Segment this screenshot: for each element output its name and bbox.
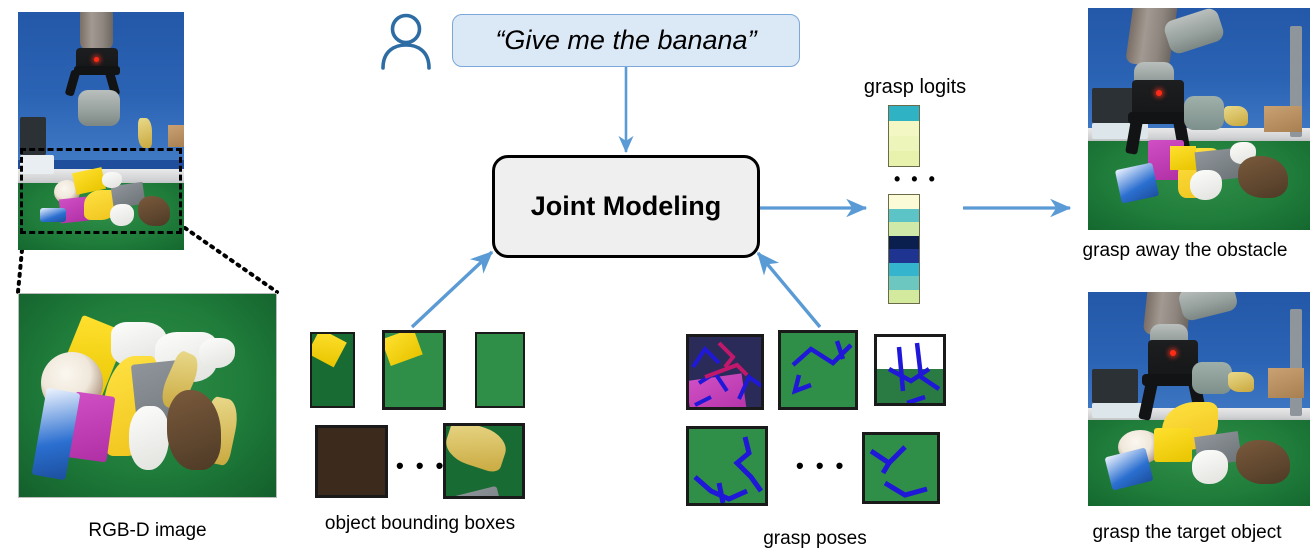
laser-dot — [1170, 350, 1176, 356]
photo-brown-animal — [1238, 156, 1288, 198]
logit-cell — [889, 236, 919, 250]
bbox-thumb-owl-toy — [315, 425, 388, 498]
bbox-thumb-banana-cluster — [310, 332, 355, 408]
photo-box — [1264, 106, 1302, 132]
bbox-thumb-gray-block — [443, 423, 525, 499]
caption-bboxes: object bounding boxes — [285, 513, 555, 535]
robot-arm-base-cyl — [1184, 96, 1224, 130]
grasp-pose-overlay — [877, 337, 946, 406]
photo-white-bone — [1192, 450, 1228, 484]
logit-cell — [889, 249, 919, 263]
pose-thumb-white-figure — [778, 330, 858, 410]
logit-cell — [889, 106, 919, 121]
grasp-logits-bar-top — [888, 105, 920, 167]
joint-modeling-label: Joint Modeling — [531, 191, 721, 222]
robot-arm-joint — [78, 90, 120, 126]
logit-cell — [889, 290, 919, 304]
photo-corn — [138, 118, 152, 148]
caption-obstacle: grasp away the obstacle — [1055, 240, 1315, 262]
pose-row2-ellipsis: • • • — [796, 455, 846, 477]
gripper-base — [74, 66, 120, 75]
photo-corn — [1228, 372, 1254, 392]
caption-poses: grasp poses — [700, 528, 930, 550]
laser-dot — [1156, 90, 1162, 96]
logit-cell — [889, 222, 919, 236]
photo-toothpaste — [40, 208, 66, 222]
logit-cell — [889, 263, 919, 277]
photo-frame-post — [1290, 309, 1302, 416]
grasp-pose-overlay — [689, 429, 768, 506]
pose-thumb-brown-animal — [862, 432, 940, 504]
logit-cell — [889, 209, 919, 223]
caption-target: grasp the target object — [1058, 522, 1316, 544]
photo-box — [168, 125, 184, 147]
laser-dot — [94, 57, 99, 62]
logits-ellipsis: • • • — [894, 170, 938, 188]
grasp-logits-bar-bottom — [888, 194, 920, 304]
grasp-pose-overlay — [781, 333, 858, 410]
photo-monitor — [1092, 369, 1138, 403]
photo-brown-animal — [138, 196, 170, 226]
photo-white-bone — [110, 204, 134, 226]
robot-arm-upper — [80, 12, 113, 50]
grasp-pose-overlay — [689, 337, 764, 410]
photo-corn — [1224, 106, 1248, 126]
photo-white-bone — [1190, 170, 1222, 200]
pose-thumb-magenta-box-2 — [686, 426, 768, 506]
rgbd-scene-photo — [18, 12, 184, 250]
logit-cell — [889, 195, 919, 209]
photo-brown-animal — [1236, 440, 1290, 484]
photo-tray — [20, 155, 54, 174]
bbox-thumb-white-figure — [475, 332, 525, 408]
bbox-thumb-white-part — [382, 330, 446, 410]
photo-monitor — [20, 117, 46, 155]
user-query-bubble: “Give me the banana” — [452, 14, 800, 67]
zoom-connector-left — [18, 250, 22, 292]
result-photo-target — [1088, 292, 1310, 506]
pose-thumb-white-bone — [874, 334, 946, 406]
grasp-logits-label: grasp logits — [840, 76, 990, 99]
caption-rgbd: RGB-D image — [18, 520, 277, 542]
user-query-text: “Give me the banana” — [495, 25, 756, 56]
logit-cell — [889, 121, 919, 136]
robot-arm-base-cyl — [1192, 362, 1232, 394]
photo-yellow-box — [1170, 146, 1196, 170]
logit-cell — [889, 151, 919, 166]
user-icon — [378, 12, 434, 70]
rgbd-zoomed-crop — [18, 293, 277, 498]
result-photo-obstacle — [1088, 8, 1310, 230]
logit-cell — [889, 136, 919, 151]
arrow-poses-to-model — [758, 253, 820, 327]
joint-modeling-box: Joint Modeling — [492, 155, 760, 258]
photo-box — [1268, 368, 1304, 398]
pose-thumb-magenta-box — [686, 334, 764, 410]
zoom-connector-right — [185, 228, 277, 292]
figure-canvas: RGB-D image “Give me the banana” Joint M… — [0, 0, 1316, 560]
crop-white-bone — [129, 406, 169, 470]
crop-white-part-c — [199, 338, 235, 368]
logit-cell — [889, 276, 919, 290]
bbox-row2-ellipsis: • • • — [396, 455, 446, 477]
arrow-bboxes-to-model — [412, 252, 492, 327]
photo-yellow-box — [1154, 428, 1192, 462]
photo-white-part — [102, 172, 122, 188]
grasp-pose-overlay — [865, 435, 940, 504]
